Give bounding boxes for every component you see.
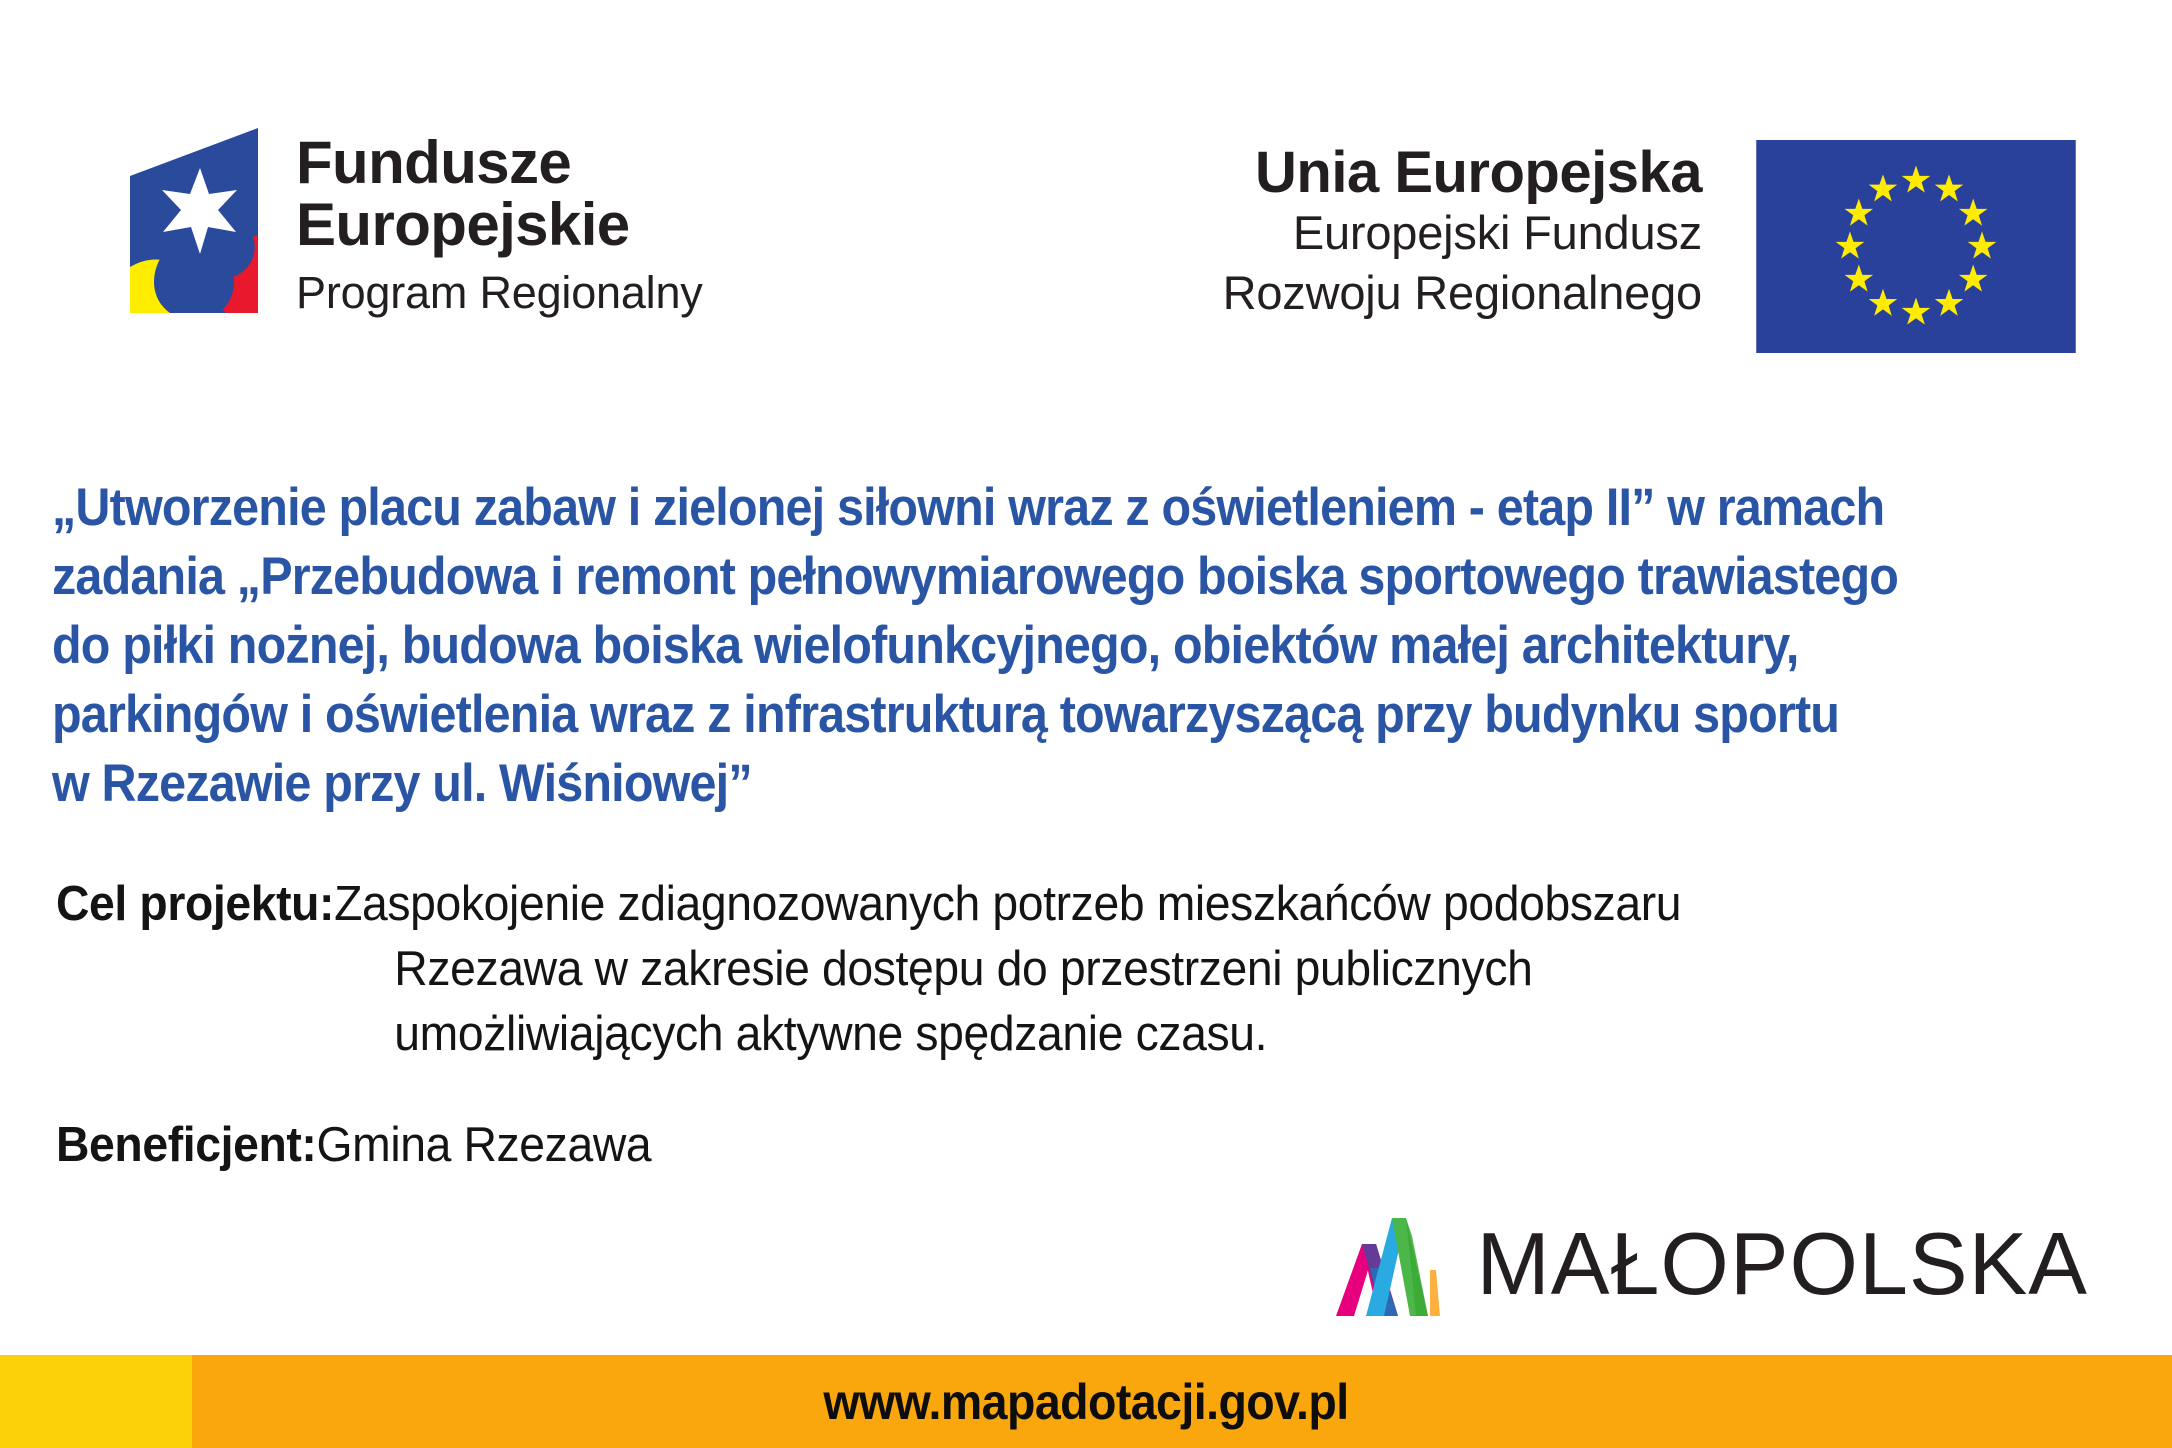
footer-url[interactable]: www.mapadotacji.gov.pl [76,1355,2096,1448]
project-title: „Utworzenie placu zabaw i zielonej siłow… [52,474,1946,818]
fundusze-europejskie-wordmark: Fundusze Europejskie Program Regionalny [296,128,703,323]
fe-program-regionalny: Program Regionalny [296,263,703,324]
fundusze-europejskie-mark-icon [108,128,258,313]
project-title-line-4: parkingów i oświetlenia wraz z infrastru… [52,681,1946,750]
european-union-flag-icon [1756,140,2076,353]
project-goal-row-1: Cel projektu:Zaspokojenie zdiagnozowanyc… [56,872,1681,937]
malopolska-mark-icon [1332,1208,1454,1320]
unia-europejska-wordmark: Unia Europejska Europejski Fundusz Rozwo… [1223,140,1702,322]
project-goal-line-3: umożliwiających aktywne spędzanie czasu. [394,1007,1267,1061]
fe-line-1: Fundusze [296,132,703,194]
project-goal-block: Cel projektu:Zaspokojenie zdiagnozowanyc… [56,872,1681,1067]
fe-line-2: Europejskie [296,194,703,256]
project-title-line-3: do piłki nożnej, budowa boiska wielofunk… [52,612,1946,681]
beneficiary-label: Beneficjent: [56,1118,316,1172]
ue-line-2: Europejski Fundusz [1223,203,1702,262]
ue-line-3: Rozwoju Regionalnego [1223,263,1702,322]
project-goal-label: Cel projektu: [56,877,334,931]
project-goal-row-2: Rzezawa w zakresie dostępu do przestrzen… [56,937,1681,1002]
project-title-line-5: w Rzezawie przy ul. Wiśniowej” [52,750,1946,819]
unia-europejska-logo: Unia Europejska Europejski Fundusz Rozwo… [1223,140,2076,353]
poster-root: Fundusze Europejskie Program Regionalny … [0,0,2172,1448]
project-goal-line-1: Zaspokojenie zdiagnozowanych potrzeb mie… [334,877,1681,931]
fundusze-europejskie-logo: Fundusze Europejskie Program Regionalny [108,128,703,323]
malopolska-wordmark: MAŁOPOLSKA [1476,1220,2088,1308]
project-goal-row-3: umożliwiających aktywne spędzanie czasu. [56,1002,1681,1067]
beneficiary-value: Gmina Rzezawa [316,1118,651,1172]
project-goal-line-2: Rzezawa w zakresie dostępu do przestrzen… [394,942,1532,996]
footer-bar: www.mapadotacji.gov.pl [0,1355,2172,1448]
ue-line-1: Unia Europejska [1223,142,1702,203]
beneficiary-block: Beneficjent:Gmina Rzezawa [56,1113,651,1178]
header-logo-strip: Fundusze Europejskie Program Regionalny … [0,0,2172,420]
project-title-line-2: zadania „Przebudowa i remont pełnowymiar… [52,543,1946,612]
project-title-line-1: „Utworzenie placu zabaw i zielonej siłow… [52,474,1946,543]
malopolska-logo: MAŁOPOLSKA [1332,1208,2088,1320]
